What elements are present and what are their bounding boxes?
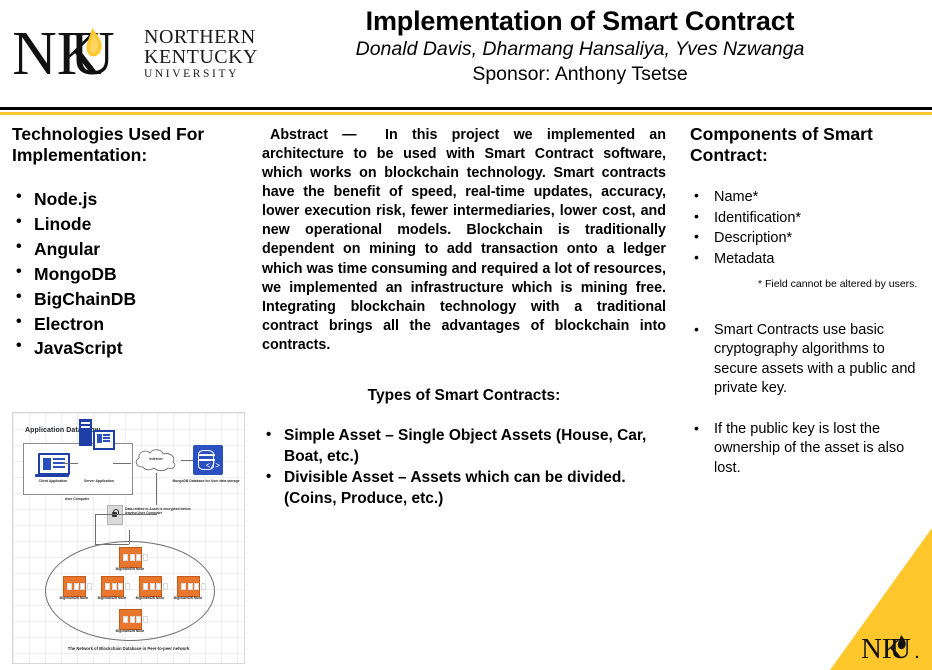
list-item: If the public key is lost the ownership … — [690, 420, 920, 478]
nku-monogram-icon: NK U — [14, 22, 140, 84]
page-title: Implementation of Smart Contract — [250, 6, 910, 36]
figure-caption: The Network of Blockchain Database in Pe… — [13, 646, 244, 651]
node-blocks — [123, 616, 148, 623]
figure-label-internet: Internet — [131, 457, 181, 461]
type-label: Simple Asset – Single Object Assets (Hou… — [284, 427, 646, 465]
technology-label: Electron — [34, 314, 104, 334]
bigchaindb-node — [101, 576, 124, 597]
header-divider-black — [0, 107, 932, 110]
lock-icon — [107, 505, 123, 525]
connector-line — [181, 460, 193, 461]
client-laptop-icon — [35, 453, 69, 477]
poster-header: NK U NORTHERN KENTUCKY UNIVERSITY Implem… — [0, 0, 932, 106]
figure-label-node: BigchainDB Node — [161, 596, 215, 600]
server-tower — [79, 419, 92, 446]
screen-pane-left — [43, 458, 51, 470]
connector-line — [63, 463, 78, 464]
left-column: Technologies Used For Implementation: No… — [12, 124, 250, 361]
technology-label: MongoDB — [34, 264, 117, 284]
technology-label: Angular — [34, 239, 100, 259]
technology-label: JavaScript — [34, 338, 123, 358]
note-label: Smart Contracts use basic cryptography a… — [714, 322, 916, 396]
technologies-heading: Technologies Used For Implementation: — [12, 124, 250, 165]
types-heading: Types of Smart Contracts: — [262, 387, 666, 405]
list-item: Electron — [12, 312, 250, 337]
connector-line — [113, 463, 131, 464]
laptop-screen — [38, 453, 70, 475]
list-item: Description* — [690, 228, 920, 249]
server-slot — [81, 426, 90, 428]
bigchaindb-node — [63, 576, 86, 597]
screen-line — [53, 458, 65, 460]
figure-label-server-app: Server Application — [73, 479, 125, 483]
figure-label-client-app: Client Application — [29, 479, 77, 483]
note-label: If the public key is lost the ownership … — [714, 421, 904, 476]
header-divider-gold — [0, 112, 932, 115]
middle-column: Abstract — In this project we implemente… — [262, 126, 666, 510]
bigchaindb-node — [139, 576, 162, 597]
list-item: Divisible Asset – Assets which can be di… — [262, 468, 666, 509]
components-list: Name* Identification* Description* Metad… — [690, 187, 920, 269]
mongodb-database-icon: </> — [193, 445, 223, 475]
screen-line — [103, 437, 110, 439]
node-blocks — [123, 554, 148, 561]
bigchaindb-node — [119, 547, 142, 568]
component-label: Name* — [714, 189, 758, 205]
components-footnote: * Field cannot be altered by users. — [758, 278, 920, 291]
list-item: Smart Contracts use basic cryptography a… — [690, 321, 920, 398]
screen-line — [53, 466, 65, 468]
figure-label-user-computer: User Computer — [45, 497, 109, 501]
code-glyph: </> — [206, 463, 220, 471]
components-heading: Components of Smart Contract: — [690, 124, 920, 165]
figure-label-database: MongoDB Database for User data storage — [169, 479, 243, 483]
sponsor-line: Sponsor: Anthony Tsetse — [250, 63, 910, 87]
nku-wordmark: NORTHERN KENTUCKY UNIVERSITY — [144, 25, 258, 81]
list-item: BigChainDB — [12, 287, 250, 312]
component-label: Description* — [714, 230, 792, 246]
connector-line — [156, 473, 157, 505]
list-item: JavaScript — [12, 336, 250, 361]
list-item: MongoDB — [12, 262, 250, 287]
title-block: Implementation of Smart Contract Donald … — [250, 6, 910, 87]
abstract-body: In this project we implemented an archit… — [262, 127, 666, 353]
screen-line — [103, 440, 110, 442]
node-blocks — [67, 583, 92, 590]
logo-line-northern: NORTHERN — [144, 27, 258, 47]
authors-line: Donald Davis, Dharmang Hansaliya, Yves N… — [250, 38, 910, 62]
figure-label-node: BigchainDB Node — [103, 629, 157, 633]
cylinder-ring — [198, 459, 215, 461]
technologies-list: Node.js Linode Angular MongoDB BigChainD… — [12, 187, 250, 361]
internet-cloud-icon: Internet — [131, 447, 181, 473]
component-label: Identification* — [714, 210, 801, 226]
technology-label: Linode — [34, 214, 91, 234]
screen-pane-left — [97, 434, 102, 443]
types-list: Simple Asset – Single Object Assets (Hou… — [262, 426, 666, 509]
list-item: Identification* — [690, 208, 920, 229]
list-item: Node.js — [12, 187, 250, 212]
abstract-lead-label: Abstract — — [262, 127, 357, 143]
laptop-base — [35, 474, 69, 477]
figure-label-node: BigchainDB Node — [103, 567, 157, 571]
technology-label: Node.js — [34, 189, 97, 209]
server-slot — [81, 422, 90, 424]
connector-line — [95, 514, 96, 544]
server-icon — [79, 419, 111, 449]
type-label: Divisible Asset – Assets which can be di… — [284, 469, 626, 507]
technology-label: BigChainDB — [34, 289, 136, 309]
list-item: Linode — [12, 212, 250, 237]
bigchaindb-node — [119, 609, 142, 630]
node-blocks — [105, 583, 130, 590]
list-item: Name* — [690, 187, 920, 208]
application-data-flow-figure: Application Data Flow Client Application — [12, 412, 245, 664]
bigchaindb-node — [177, 576, 200, 597]
component-label: Metadata — [714, 251, 774, 267]
connector-line — [107, 514, 157, 515]
right-column: Components of Smart Contract: Name* Iden… — [690, 124, 920, 500]
list-item: Metadata — [690, 249, 920, 270]
cylinder-ring — [198, 454, 215, 456]
node-blocks — [181, 583, 206, 590]
connector-line — [95, 514, 108, 515]
logo-line-kentucky: KENTUCKY — [144, 47, 258, 67]
server-screen — [93, 430, 115, 450]
poster-body: Technologies Used For Implementation: No… — [0, 118, 932, 670]
screen-line — [103, 434, 110, 436]
list-item: Angular — [12, 237, 250, 262]
logo-line-university: UNIVERSITY — [144, 69, 258, 81]
nku-logo: NK U NORTHERN KENTUCKY UNIVERSITY — [14, 22, 258, 84]
node-blocks — [143, 583, 168, 590]
list-item: Simple Asset – Single Object Assets (Hou… — [262, 426, 666, 467]
notes-list: Smart Contracts use basic cryptography a… — [690, 321, 920, 478]
abstract-paragraph: Abstract — In this project we implemente… — [262, 126, 666, 355]
